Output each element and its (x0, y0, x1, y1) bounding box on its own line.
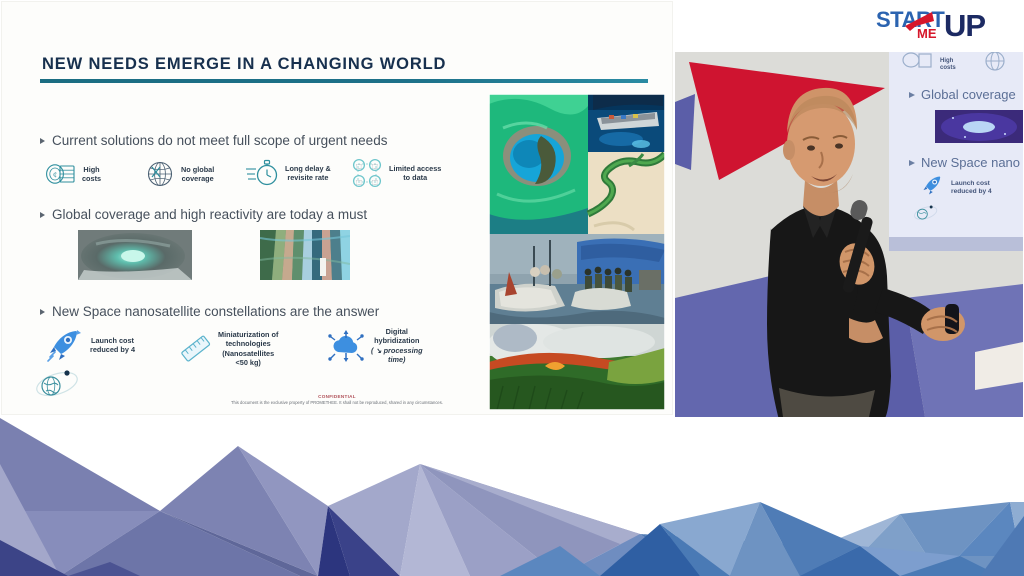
screen-capture: STA RT ME UP NEW NEEDS EMERGE IN A CHANG… (0, 0, 1024, 576)
feature-miniaturization: Miniaturization of technologies (Nanosat… (180, 330, 278, 368)
screen-mini-label-2: reduced by 4 (951, 188, 992, 195)
coins-icon: ¢ (44, 159, 76, 189)
logo-text-me: ME (917, 26, 937, 41)
feature-high-costs: ¢ High costs (44, 159, 101, 189)
feature-label: Miniaturization of technologies (Nanosat… (218, 330, 278, 368)
data-nodes-icon: ⬚ ⬚ ⬚ ⬚ (351, 157, 383, 189)
title-underline (40, 79, 648, 83)
bullet-marker-icon (40, 309, 45, 315)
bullet-global-coverage: Global coverage and high reactivity are … (40, 207, 367, 222)
svg-text:⬚: ⬚ (372, 180, 378, 186)
bullet-current-solutions: Current solutions do not meet full scope… (40, 133, 387, 148)
stopwatch-icon (245, 157, 279, 189)
screen-mini-label-1: Launch cost (951, 180, 991, 187)
imagery-collage (489, 94, 665, 410)
feature-limited-access: ⬚ ⬚ ⬚ ⬚ Limited access to data (351, 157, 441, 189)
screen-top-label-1: High (940, 58, 954, 64)
speaker-camera-feed[interactable]: High costs Global coverage New Space nan… (675, 52, 1023, 417)
ruler-icon (180, 332, 212, 366)
slide-title: NEW NEEDS EMERGE IN A CHANGING WORLD (42, 55, 446, 74)
river-delta-satellite-photo (260, 230, 350, 280)
svg-text:⬚: ⬚ (356, 164, 362, 170)
hurricane-satellite-photo (78, 230, 192, 280)
feature-label: Limited access to data (389, 164, 441, 183)
confidential-notice: This document is the exclusive property … (2, 400, 672, 405)
feature-label: High costs (82, 165, 101, 184)
algae-bloom-photo (489, 94, 588, 234)
screen-bullet-global-coverage: Global coverage (921, 87, 1016, 102)
feature-label: Digital hybridization ( ↘ processing tim… (371, 327, 423, 365)
cargo-ship-aerial-photo (588, 94, 665, 152)
feature-label: Launch cost reduced by 4 (90, 336, 135, 355)
feature-label: No global coverage (181, 165, 214, 184)
globe-grid-icon (145, 159, 175, 189)
svg-text:⬚: ⬚ (372, 164, 378, 170)
bullet-marker-icon (40, 138, 45, 144)
river-meander-photo (588, 152, 665, 234)
svg-text:⬚: ⬚ (356, 180, 362, 186)
screen-top-label-2: costs (940, 65, 956, 71)
feature-no-global-coverage: No global coverage (145, 159, 214, 189)
screen-bullet-new-space: New Space nano (921, 155, 1020, 170)
svg-text:¢: ¢ (53, 171, 57, 180)
logo-text-up: UP (944, 8, 985, 43)
feature-launch-cost: Launch cost reduced by 4 (46, 327, 135, 363)
boat-interception-photo (489, 234, 665, 324)
confidential-footer: CONFIDENTIAL This document is the exclus… (2, 394, 672, 405)
feature-digital-hybridization: Digital hybridization ( ↘ processing tim… (327, 327, 423, 365)
startmeup-logo: STA RT ME UP (872, 4, 1018, 44)
cloud-hybrid-icon (327, 328, 365, 364)
rocket-icon (46, 327, 84, 363)
presentation-slide: NEW NEEDS EMERGE IN A CHANGING WORLD Cur… (2, 2, 672, 414)
bullet-new-space: New Space nanosatellite constellations a… (40, 304, 379, 319)
confidential-label: CONFIDENTIAL (2, 394, 672, 399)
bullet-marker-icon (40, 212, 45, 218)
feature-label: Long delay & revisite rate (285, 164, 331, 183)
low-poly-mountain-decoration (0, 406, 1024, 576)
feature-long-delay: Long delay & revisite rate (245, 157, 331, 189)
